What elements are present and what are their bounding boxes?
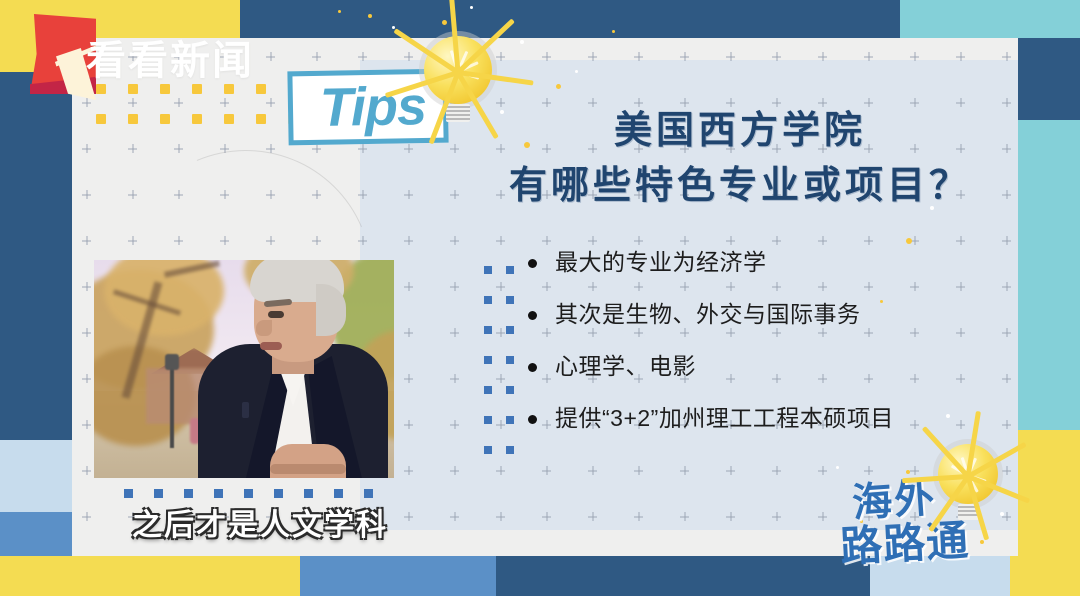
- brand-wordmark: 看看新闻: [86, 28, 254, 86]
- blue-dot-icon: [506, 386, 514, 394]
- bg-block-navy-top: [240, 0, 900, 38]
- blue-dot-icon: [506, 356, 514, 364]
- bullet-text: 其次是生物、外交与国际事务: [555, 300, 861, 330]
- sparkle-icon: [520, 40, 524, 44]
- bullet-text: 心理学、电影: [555, 352, 696, 382]
- blue-dot-icon: [506, 266, 514, 274]
- blue-dot-icon: [274, 489, 283, 498]
- page-title-line-2: 有哪些特色专业或项目？: [470, 159, 1010, 214]
- bg-block-navy-left: [0, 72, 72, 440]
- blue-dot-icon: [214, 489, 223, 498]
- blue-dot-icon: [484, 416, 492, 424]
- blue-dot-icon: [304, 489, 313, 498]
- bullet-text: 最大的专业为经济学: [555, 248, 767, 278]
- blue-dot-icon: [184, 489, 193, 498]
- sparkle-icon: [368, 14, 372, 18]
- blue-dot-icon: [484, 446, 492, 454]
- bullet-dot-icon: [528, 311, 537, 320]
- sparkle-icon: [442, 20, 447, 25]
- bg-block-yellow-bottom-left: [0, 556, 300, 596]
- sparkle-icon: [556, 84, 561, 89]
- bg-block-navy-top-right: [1018, 38, 1080, 120]
- bullet-item: 其次是生物、外交与国际事务: [528, 300, 998, 330]
- blue-dot-icon: [154, 489, 163, 498]
- bullet-item: 最大的专业为经济学: [528, 248, 998, 278]
- blue-dot-icon: [124, 489, 133, 498]
- blue-dot-icon: [334, 489, 343, 498]
- sparkle-icon: [836, 466, 839, 469]
- blue-dot-icon: [506, 296, 514, 304]
- blue-dot-icon: [506, 416, 514, 424]
- bullet-dot-icon: [528, 415, 537, 424]
- bullet-dot-icon: [528, 363, 537, 372]
- bg-block-teal-top-right: [900, 0, 1080, 38]
- page-title-line-1: 美国西方学院: [470, 104, 1010, 159]
- bullet-dot-icon: [528, 259, 537, 268]
- bg-block-lightblue-left: [0, 440, 72, 512]
- sparkle-icon: [338, 10, 341, 13]
- blue-dot-icon: [484, 296, 492, 304]
- program-brand-line-2: 路路通: [838, 507, 970, 575]
- bullet-item: 心理学、电影: [528, 352, 998, 382]
- subtitle-caption: 之后才是人文学科: [110, 500, 410, 544]
- blue-dot-icon: [484, 386, 492, 394]
- video-still[interactable]: [94, 260, 394, 478]
- sparkle-icon: [612, 30, 615, 33]
- blue-dot-icon: [506, 326, 514, 334]
- blue-dot-icon: [364, 489, 373, 498]
- sparkle-icon: [575, 70, 578, 73]
- bg-block-midblue-bottom: [300, 556, 496, 596]
- sparkle-icon: [906, 238, 912, 244]
- blue-dot-icon: [484, 266, 492, 274]
- screenshot-root: 看看新闻 Tips 美国西方学院 有哪些特色专业或项目？ 最大的专业为经济学其次…: [0, 0, 1080, 596]
- bg-block-midblue-left: [0, 512, 72, 556]
- bullet-text: 提供“3+2”加州理工工程本硕项目: [555, 404, 894, 434]
- page-title: 美国西方学院 有哪些特色专业或项目？: [470, 104, 1010, 214]
- bg-block-yellow-bottom-right: [1010, 430, 1080, 596]
- blue-dot-icon: [484, 326, 492, 334]
- bg-block-teal-right: [1018, 120, 1080, 430]
- bg-block-navy-bottom: [496, 556, 870, 596]
- bullet-list: 最大的专业为经济学其次是生物、外交与国际事务心理学、电影提供“3+2”加州理工工…: [528, 248, 998, 456]
- blue-dot-icon: [244, 489, 253, 498]
- sparkle-icon: [470, 6, 473, 9]
- blue-dot-icon: [484, 356, 492, 364]
- blue-dot-icon: [506, 446, 514, 454]
